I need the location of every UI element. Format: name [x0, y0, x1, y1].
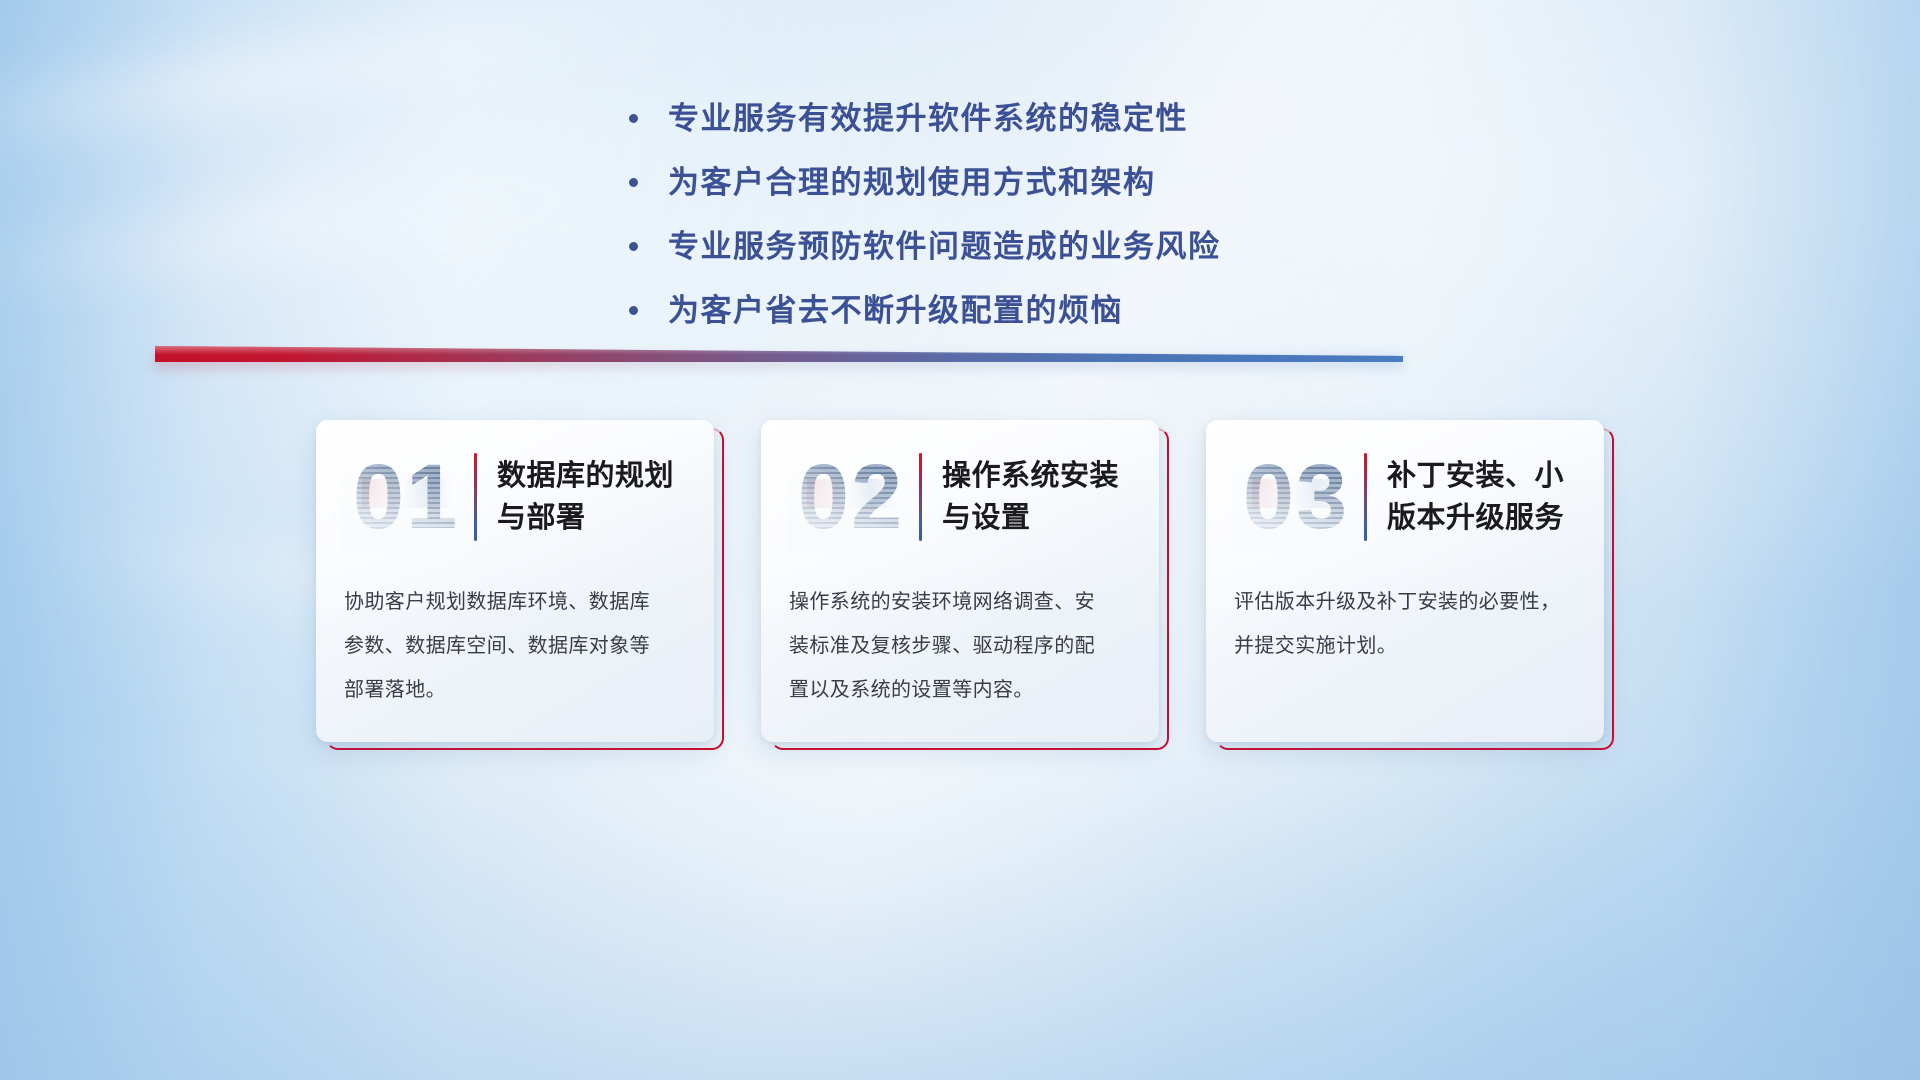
bullet-text: 为客户省去不断升级配置的烦恼: [668, 295, 1123, 326]
card-number: 03: [1243, 442, 1349, 552]
service-card[interactable]: 01 数据库的规划 与部署 协助客户规划数据库环境、数据库 参数、数据库空间、数…: [316, 420, 714, 742]
card-body-text: 协助客户规划数据库环境、数据库 参数、数据库空间、数据库对象等 部署落地。: [344, 580, 688, 712]
slide-canvas: 专业服务有效提升软件系统的稳定性 为客户合理的规划使用方式和架构 专业服务预防软…: [0, 0, 1920, 1080]
service-card[interactable]: 02 操作系统安装 与设置 操作系统的安装环境网络调查、安 装标准及复核步骤、驱…: [761, 420, 1159, 742]
benefits-bullet-list: 专业服务有效提升软件系统的稳定性 为客户合理的规划使用方式和架构 专业服务预防软…: [0, 86, 1920, 342]
card-header: 01 数据库的规划 与部署: [316, 434, 714, 560]
card-title: 补丁安装、小 版本升级服务: [1387, 455, 1604, 539]
bullet-text: 专业服务预防软件问题造成的业务风险: [668, 231, 1221, 262]
card-header: 02 操作系统安装 与设置: [761, 434, 1159, 560]
bullet-dot-icon: [629, 114, 638, 123]
card-title-rule: [919, 453, 922, 541]
list-item: 专业服务有效提升软件系统的稳定性: [615, 86, 1305, 150]
card-body-text: 评估版本升级及补丁安装的必要性， 并提交实施计划。: [1234, 580, 1578, 668]
divider-gloss: [155, 346, 1403, 362]
card-title: 操作系统安装 与设置: [942, 455, 1159, 539]
card-surface: 01 数据库的规划 与部署 协助客户规划数据库环境、数据库 参数、数据库空间、数…: [316, 420, 714, 742]
list-item: 为客户合理的规划使用方式和架构: [615, 150, 1305, 214]
bullet-dot-icon: [629, 178, 638, 187]
card-title-rule: [1364, 453, 1367, 541]
card-body-text: 操作系统的安装环境网络调查、安 装标准及复核步骤、驱动程序的配 置以及系统的设置…: [789, 580, 1133, 712]
card-title-rule: [474, 453, 477, 541]
list-item: 为客户省去不断升级配置的烦恼: [615, 278, 1305, 342]
card-number: 01: [353, 442, 459, 552]
card-surface: 02 操作系统安装 与设置 操作系统的安装环境网络调查、安 装标准及复核步骤、驱…: [761, 420, 1159, 742]
card-number-badge: 03: [1232, 442, 1360, 552]
card-title: 数据库的规划 与部署: [497, 455, 714, 539]
card-number-badge: 02: [787, 442, 915, 552]
card-number: 02: [798, 442, 904, 552]
service-card-row: 01 数据库的规划 与部署 协助客户规划数据库环境、数据库 参数、数据库空间、数…: [0, 420, 1920, 742]
bullet-text: 为客户合理的规划使用方式和架构: [668, 167, 1156, 198]
bullet-dot-icon: [629, 242, 638, 251]
bullet-text: 专业服务有效提升软件系统的稳定性: [668, 103, 1188, 134]
card-number-badge: 01: [342, 442, 470, 552]
card-header: 03 补丁安装、小 版本升级服务: [1206, 434, 1604, 560]
bullet-dot-icon: [629, 306, 638, 315]
section-divider: [155, 346, 1403, 362]
list-item: 专业服务预防软件问题造成的业务风险: [615, 214, 1305, 278]
service-card[interactable]: 03 补丁安装、小 版本升级服务 评估版本升级及补丁安装的必要性， 并提交实施计…: [1206, 420, 1604, 742]
card-surface: 03 补丁安装、小 版本升级服务 评估版本升级及补丁安装的必要性， 并提交实施计…: [1206, 420, 1604, 742]
